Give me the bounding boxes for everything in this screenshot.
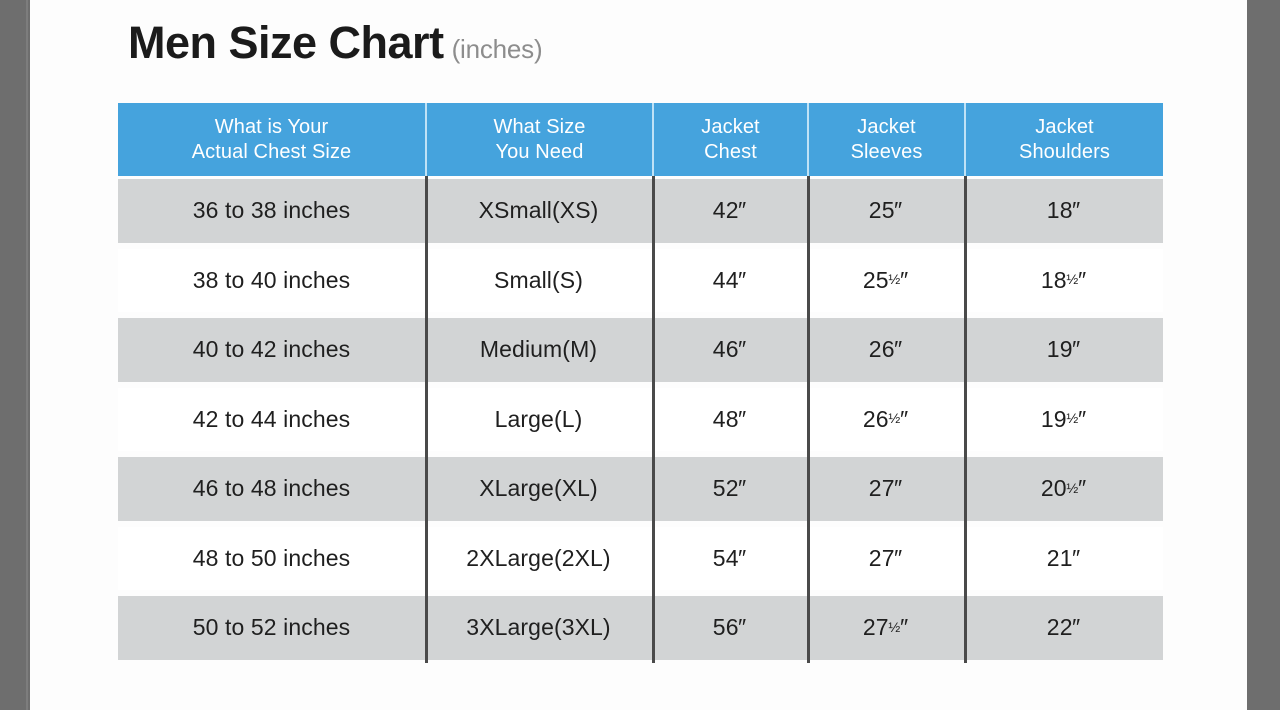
value-whole: 26 [863, 406, 889, 433]
letterbox-bar-right [1247, 0, 1280, 710]
cell-actual-chest-size: 40 to 42 inches [118, 318, 425, 382]
inch-mark: ″ [900, 267, 908, 294]
column-header-line2: You Need [496, 140, 584, 164]
column-divider-4 [964, 176, 967, 663]
column-header-line1: Jacket [701, 115, 759, 139]
value-whole: 26 [869, 336, 895, 363]
cell-jacket-chest: 54″ [652, 527, 807, 591]
column-header-jacket-chest: Jacket Chest [652, 103, 807, 176]
cell-jacket-chest: 44″ [652, 249, 807, 313]
table-header-row: What is Your Actual Chest Size What Size… [118, 103, 1163, 176]
inch-mark: ″ [738, 614, 746, 641]
value-whole: 56 [713, 614, 739, 641]
cell-jacket-shoulders: 20½″ [964, 457, 1163, 521]
cell-jacket-chest: 48″ [652, 388, 807, 452]
cell-jacket-shoulders: 19″ [964, 318, 1163, 382]
value-fraction: ½ [1066, 272, 1078, 288]
column-divider-3 [807, 176, 810, 663]
cell-jacket-sleeves: 25″ [807, 179, 964, 243]
inch-mark: ″ [1072, 197, 1080, 224]
table-row: 46 to 48 inches XLarge(XL) 52″ 27″ 20½″ [118, 454, 1163, 524]
inch-mark: ″ [900, 406, 908, 433]
value-whole: 52 [713, 475, 739, 502]
cell-jacket-shoulders: 19½″ [964, 388, 1163, 452]
inch-mark: ″ [1078, 475, 1086, 502]
value-whole: 44 [713, 267, 739, 294]
column-header-jacket-sleeves: Jacket Sleeves [807, 103, 964, 176]
cell-size-you-need: 2XLarge(2XL) [425, 527, 652, 591]
cell-jacket-chest: 52″ [652, 457, 807, 521]
value-whole: 27 [869, 475, 895, 502]
screenshot-stage: Men Size Chart(inches) What is Your Actu… [0, 0, 1280, 710]
value-whole: 20 [1041, 475, 1067, 502]
cell-jacket-chest: 46″ [652, 318, 807, 382]
table-row: 48 to 50 inches 2XLarge(2XL) 54″ 27″ 21″ [118, 524, 1163, 594]
table-row: 36 to 38 inches XSmall(XS) 42″ 25″ 18″ [118, 176, 1163, 246]
cell-jacket-sleeves: 27½″ [807, 596, 964, 660]
cell-jacket-shoulders: 18½″ [964, 249, 1163, 313]
cell-actual-chest-size: 38 to 40 inches [118, 249, 425, 313]
column-header-line2: Chest [704, 140, 757, 164]
cell-size-you-need: Large(L) [425, 388, 652, 452]
value-whole: 19 [1047, 336, 1073, 363]
value-whole: 19 [1041, 406, 1067, 433]
cell-size-you-need: Small(S) [425, 249, 652, 313]
value-whole: 18 [1047, 197, 1073, 224]
column-header-jacket-shoulders: Jacket Shoulders [964, 103, 1163, 176]
column-header-line1: What is Your [215, 115, 329, 139]
cell-actual-chest-size: 42 to 44 inches [118, 388, 425, 452]
cell-jacket-chest: 56″ [652, 596, 807, 660]
column-header-actual-chest-size: What is Your Actual Chest Size [118, 103, 425, 176]
cell-actual-chest-size: 36 to 38 inches [118, 179, 425, 243]
value-whole: 54 [713, 545, 739, 572]
size-chart-table: What is Your Actual Chest Size What Size… [118, 103, 1163, 663]
value-whole: 25 [863, 267, 889, 294]
cell-jacket-shoulders: 18″ [964, 179, 1163, 243]
cell-jacket-sleeves: 26½″ [807, 388, 964, 452]
value-fraction: ½ [1066, 411, 1078, 427]
value-whole: 21 [1047, 545, 1073, 572]
inch-mark: ″ [1072, 336, 1080, 363]
column-header-line1: What Size [493, 115, 585, 139]
cell-jacket-sleeves: 25½″ [807, 249, 964, 313]
letterbox-seam-left [26, 0, 28, 710]
cell-jacket-shoulders: 21″ [964, 527, 1163, 591]
value-whole: 18 [1041, 267, 1067, 294]
column-header-line1: Jacket [857, 115, 915, 139]
value-whole: 27 [863, 614, 889, 641]
cell-jacket-chest: 42″ [652, 179, 807, 243]
inch-mark: ″ [894, 545, 902, 572]
column-header-line1: Jacket [1035, 115, 1093, 139]
inch-mark: ″ [1072, 545, 1080, 572]
table-body: 36 to 38 inches XSmall(XS) 42″ 25″ 18″ 3… [118, 176, 1163, 663]
column-header-size-you-need: What Size You Need [425, 103, 652, 176]
value-fraction: ½ [1066, 481, 1078, 497]
value-whole: 22 [1047, 614, 1073, 641]
inch-mark: ″ [738, 197, 746, 224]
table-row: 42 to 44 inches Large(L) 48″ 26½″ 19½″ [118, 385, 1163, 455]
value-whole: 27 [869, 545, 895, 572]
inch-mark: ″ [738, 336, 746, 363]
page-title: Men Size Chart(inches) [128, 20, 542, 65]
inch-mark: ″ [1072, 614, 1080, 641]
cell-actual-chest-size: 46 to 48 inches [118, 457, 425, 521]
inch-mark: ″ [894, 197, 902, 224]
value-whole: 46 [713, 336, 739, 363]
value-whole: 25 [869, 197, 895, 224]
cell-actual-chest-size: 48 to 50 inches [118, 527, 425, 591]
page-title-main: Men Size Chart [128, 17, 444, 68]
table-row: 40 to 42 inches Medium(M) 46″ 26″ 19″ [118, 315, 1163, 385]
inch-mark: ″ [738, 267, 746, 294]
cell-jacket-shoulders: 22″ [964, 596, 1163, 660]
cell-jacket-sleeves: 27″ [807, 457, 964, 521]
column-header-line2: Sleeves [851, 140, 923, 164]
cell-size-you-need: Medium(M) [425, 318, 652, 382]
column-header-line2: Shoulders [1019, 140, 1110, 164]
inch-mark: ″ [1078, 406, 1086, 433]
inch-mark: ″ [738, 406, 746, 433]
cell-actual-chest-size: 50 to 52 inches [118, 596, 425, 660]
column-divider-2 [652, 176, 655, 663]
cell-size-you-need: XSmall(XS) [425, 179, 652, 243]
value-whole: 42 [713, 197, 739, 224]
column-divider-1 [425, 176, 428, 663]
inch-mark: ″ [738, 545, 746, 572]
value-fraction: ½ [888, 272, 900, 288]
value-whole: 48 [713, 406, 739, 433]
column-header-line2: Actual Chest Size [192, 140, 352, 164]
chart-page: Men Size Chart(inches) What is Your Actu… [30, 0, 1247, 710]
inch-mark: ″ [894, 475, 902, 502]
value-fraction: ½ [888, 620, 900, 636]
cell-size-you-need: 3XLarge(3XL) [425, 596, 652, 660]
value-fraction: ½ [888, 411, 900, 427]
cell-jacket-sleeves: 27″ [807, 527, 964, 591]
table-row: 50 to 52 inches 3XLarge(3XL) 56″ 27½″ 22… [118, 593, 1163, 663]
table-row: 38 to 40 inches Small(S) 44″ 25½″ 18½″ [118, 246, 1163, 316]
inch-mark: ″ [738, 475, 746, 502]
cell-jacket-sleeves: 26″ [807, 318, 964, 382]
inch-mark: ″ [1078, 267, 1086, 294]
cell-size-you-need: XLarge(XL) [425, 457, 652, 521]
inch-mark: ″ [900, 614, 908, 641]
page-title-unit: (inches) [452, 34, 543, 64]
inch-mark: ″ [894, 336, 902, 363]
